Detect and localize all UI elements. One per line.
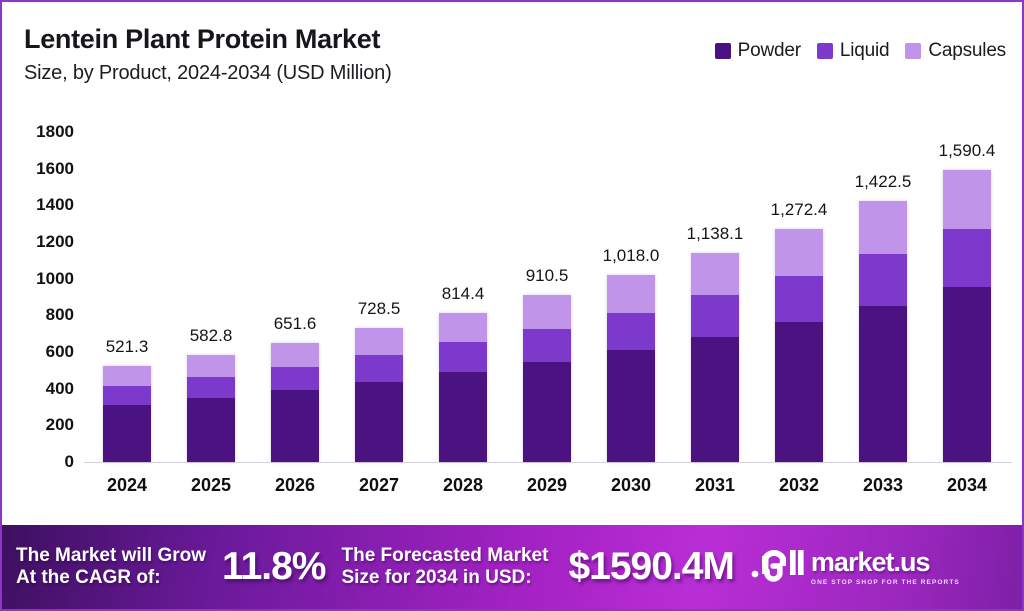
bar-group[interactable]: 521.32024 xyxy=(103,106,151,518)
bar-segment-powder[interactable] xyxy=(271,390,319,462)
stacked-bar[interactable] xyxy=(523,295,571,462)
infographic-root: Lentein Plant Protein Market Size, by Pr… xyxy=(0,0,1024,611)
stacked-bar[interactable] xyxy=(103,366,151,462)
y-axis-tick-label: 0 xyxy=(65,452,74,472)
bar-segment-capsules[interactable] xyxy=(607,275,655,312)
legend-item-powder[interactable]: Powder xyxy=(715,40,801,62)
plot-area: 180016001400120010008006004002000 521.32… xyxy=(2,106,1024,518)
x-axis-tick-label: 2033 xyxy=(863,475,903,496)
x-axis-tick-label: 2024 xyxy=(107,475,147,496)
bar-group[interactable]: 728.52027 xyxy=(355,106,403,518)
x-axis-tick-label: 2025 xyxy=(191,475,231,496)
bar-value-label: 814.4 xyxy=(442,284,485,304)
bar-group[interactable]: 1,422.52033 xyxy=(859,106,907,518)
y-axis-tick-label: 1800 xyxy=(36,122,74,142)
bar-segment-powder[interactable] xyxy=(943,287,991,462)
y-axis-tick-label: 1200 xyxy=(36,232,74,252)
bar-segment-liquid[interactable] xyxy=(187,377,235,398)
y-axis-tick-label: 600 xyxy=(46,342,74,362)
legend-swatch-icon xyxy=(715,43,731,59)
page-subtitle: Size, by Product, 2024-2034 (USD Million… xyxy=(24,62,392,85)
bar-segment-powder[interactable] xyxy=(355,382,403,462)
bar-segment-capsules[interactable] xyxy=(271,343,319,367)
bar-value-label: 910.5 xyxy=(526,266,569,286)
bar-segment-liquid[interactable] xyxy=(859,254,907,306)
bar-segment-capsules[interactable] xyxy=(439,313,487,343)
y-axis: 180016001400120010008006004002000 xyxy=(2,106,84,518)
x-axis-tick-label: 2032 xyxy=(779,475,819,496)
bar-segment-capsules[interactable] xyxy=(523,295,571,328)
stacked-bar[interactable] xyxy=(607,275,655,462)
x-axis-tick-label: 2030 xyxy=(611,475,651,496)
bar-value-label: 651.6 xyxy=(274,314,317,334)
bar-segment-liquid[interactable] xyxy=(271,367,319,391)
x-axis-tick-label: 2029 xyxy=(527,475,567,496)
logo-name: market.us xyxy=(811,547,930,577)
bar-segment-liquid[interactable] xyxy=(439,342,487,372)
legend-item-label: Capsules xyxy=(928,40,1006,62)
bar-segment-capsules[interactable] xyxy=(187,355,235,376)
bar-segment-liquid[interactable] xyxy=(943,229,991,287)
stacked-bar[interactable] xyxy=(691,253,739,462)
bar-segment-powder[interactable] xyxy=(607,350,655,462)
legend-item-capsules[interactable]: Capsules xyxy=(905,40,1006,62)
bar-segment-capsules[interactable] xyxy=(103,366,151,385)
bar-segment-liquid[interactable] xyxy=(775,276,823,323)
stacked-bar[interactable] xyxy=(775,229,823,462)
bar-segment-liquid[interactable] xyxy=(523,329,571,362)
bar-value-label: 1,422.5 xyxy=(855,172,912,192)
bar-segment-capsules[interactable] xyxy=(859,201,907,253)
bar-segment-liquid[interactable] xyxy=(355,355,403,382)
bar-segment-capsules[interactable] xyxy=(355,328,403,355)
bar-group[interactable]: 814.42028 xyxy=(439,106,487,518)
bar-segment-powder[interactable] xyxy=(859,306,907,462)
bar-group[interactable]: 1,018.02030 xyxy=(607,106,655,518)
bar-segment-liquid[interactable] xyxy=(691,295,739,337)
bar-segment-capsules[interactable] xyxy=(943,170,991,228)
legend-swatch-icon xyxy=(817,43,833,59)
bar-group[interactable]: 651.62026 xyxy=(271,106,319,518)
stacked-bar[interactable] xyxy=(271,343,319,462)
y-axis-tick-label: 800 xyxy=(46,305,74,325)
stacked-bar[interactable] xyxy=(187,355,235,462)
x-axis-tick-label: 2028 xyxy=(443,475,483,496)
bar-segment-liquid[interactable] xyxy=(103,386,151,405)
cagr-value: 11.8% xyxy=(222,545,325,589)
forecast-value: $1590.4M xyxy=(568,545,733,589)
bar-value-label: 521.3 xyxy=(106,337,149,357)
y-axis-tick-label: 400 xyxy=(46,379,74,399)
bar-segment-capsules[interactable] xyxy=(691,253,739,295)
chart-header: Lentein Plant Protein Market Size, by Pr… xyxy=(2,2,1024,106)
bar-group[interactable]: 1,138.12031 xyxy=(691,106,739,518)
bar-segment-powder[interactable] xyxy=(187,398,235,462)
y-axis-tick-label: 1400 xyxy=(36,195,74,215)
y-axis-tick-label: 1600 xyxy=(36,159,74,179)
stacked-bar[interactable] xyxy=(439,313,487,462)
bar-value-label: 1,590.4 xyxy=(939,141,996,161)
bar-value-label: 1,272.4 xyxy=(771,200,828,220)
bar-segment-liquid[interactable] xyxy=(607,313,655,350)
bar-segment-capsules[interactable] xyxy=(775,229,823,276)
bar-segment-powder[interactable] xyxy=(523,362,571,462)
legend-item-label: Liquid xyxy=(840,40,890,62)
logo-tagline: ONE STOP SHOP FOR THE REPORTS xyxy=(811,579,960,586)
bar-group[interactable]: 910.52029 xyxy=(523,106,571,518)
stacked-bar[interactable] xyxy=(859,201,907,462)
bar-segment-powder[interactable] xyxy=(439,372,487,462)
cagr-label: The Market will Grow At the CAGR of: xyxy=(16,545,206,590)
bars-container: 521.32024582.82025651.62026728.52027814.… xyxy=(84,106,1024,518)
bar-value-label: 728.5 xyxy=(358,299,401,319)
stacked-bar[interactable] xyxy=(943,170,991,462)
x-axis-tick-label: 2034 xyxy=(947,475,987,496)
market-us-logomark-icon xyxy=(750,544,804,591)
y-axis-tick-label: 200 xyxy=(46,415,74,435)
x-axis-tick-label: 2031 xyxy=(695,475,735,496)
bar-value-label: 1,138.1 xyxy=(687,224,744,244)
legend-swatch-icon xyxy=(905,43,921,59)
legend-item-label: Powder xyxy=(738,40,801,62)
page-title: Lentein Plant Protein Market xyxy=(24,24,380,55)
bar-segment-powder[interactable] xyxy=(691,337,739,462)
market-us-logo[interactable]: market.us ONE STOP SHOP FOR THE REPORTS xyxy=(750,544,960,591)
bar-group[interactable]: 1,590.42034 xyxy=(943,106,991,518)
summary-banner: The Market will Grow At the CAGR of: 11.… xyxy=(2,525,1024,609)
stacked-bar[interactable] xyxy=(355,328,403,462)
x-axis-tick-label: 2027 xyxy=(359,475,399,496)
legend-item-liquid[interactable]: Liquid xyxy=(817,40,890,62)
forecast-label: The Forecasted Market Size for 2034 in U… xyxy=(341,545,548,590)
bar-segment-powder[interactable] xyxy=(775,322,823,462)
market-us-wordmark: market.us ONE STOP SHOP FOR THE REPORTS xyxy=(811,549,960,586)
chart-legend: PowderLiquidCapsules xyxy=(715,40,1006,62)
bar-value-label: 582.8 xyxy=(190,326,233,346)
x-axis-tick-label: 2026 xyxy=(275,475,315,496)
bar-value-label: 1,018.0 xyxy=(603,246,660,266)
bar-group[interactable]: 1,272.42032 xyxy=(775,106,823,518)
bar-segment-powder[interactable] xyxy=(103,405,151,462)
bar-group[interactable]: 582.82025 xyxy=(187,106,235,518)
y-axis-tick-label: 1000 xyxy=(36,269,74,289)
